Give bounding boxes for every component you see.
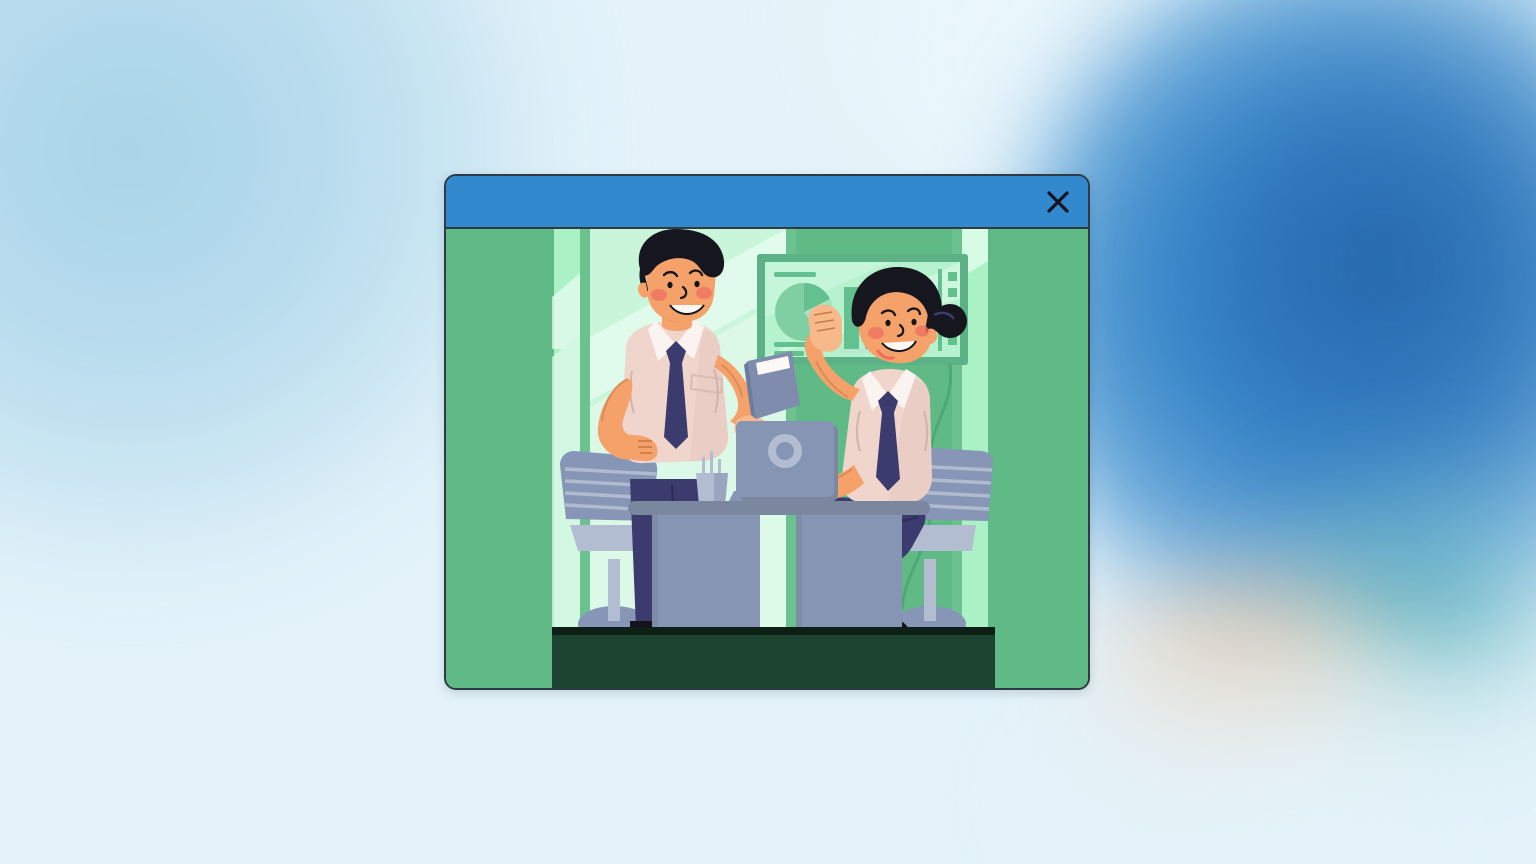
modal-body bbox=[446, 229, 1088, 690]
screen bbox=[0, 0, 1536, 864]
modal-window bbox=[444, 174, 1090, 690]
desktop-monitor bbox=[736, 421, 838, 507]
background-blob-blue bbox=[1018, 0, 1536, 660]
close-icon bbox=[1045, 189, 1071, 215]
background-blob-peach bbox=[1060, 560, 1440, 800]
background-blob-deep-blue bbox=[1190, 30, 1536, 550]
background-blob-teal bbox=[1230, 470, 1536, 770]
close-button[interactable] bbox=[1038, 182, 1078, 222]
modal-titlebar bbox=[446, 176, 1088, 229]
office-teamwork-illustration bbox=[552, 229, 995, 690]
